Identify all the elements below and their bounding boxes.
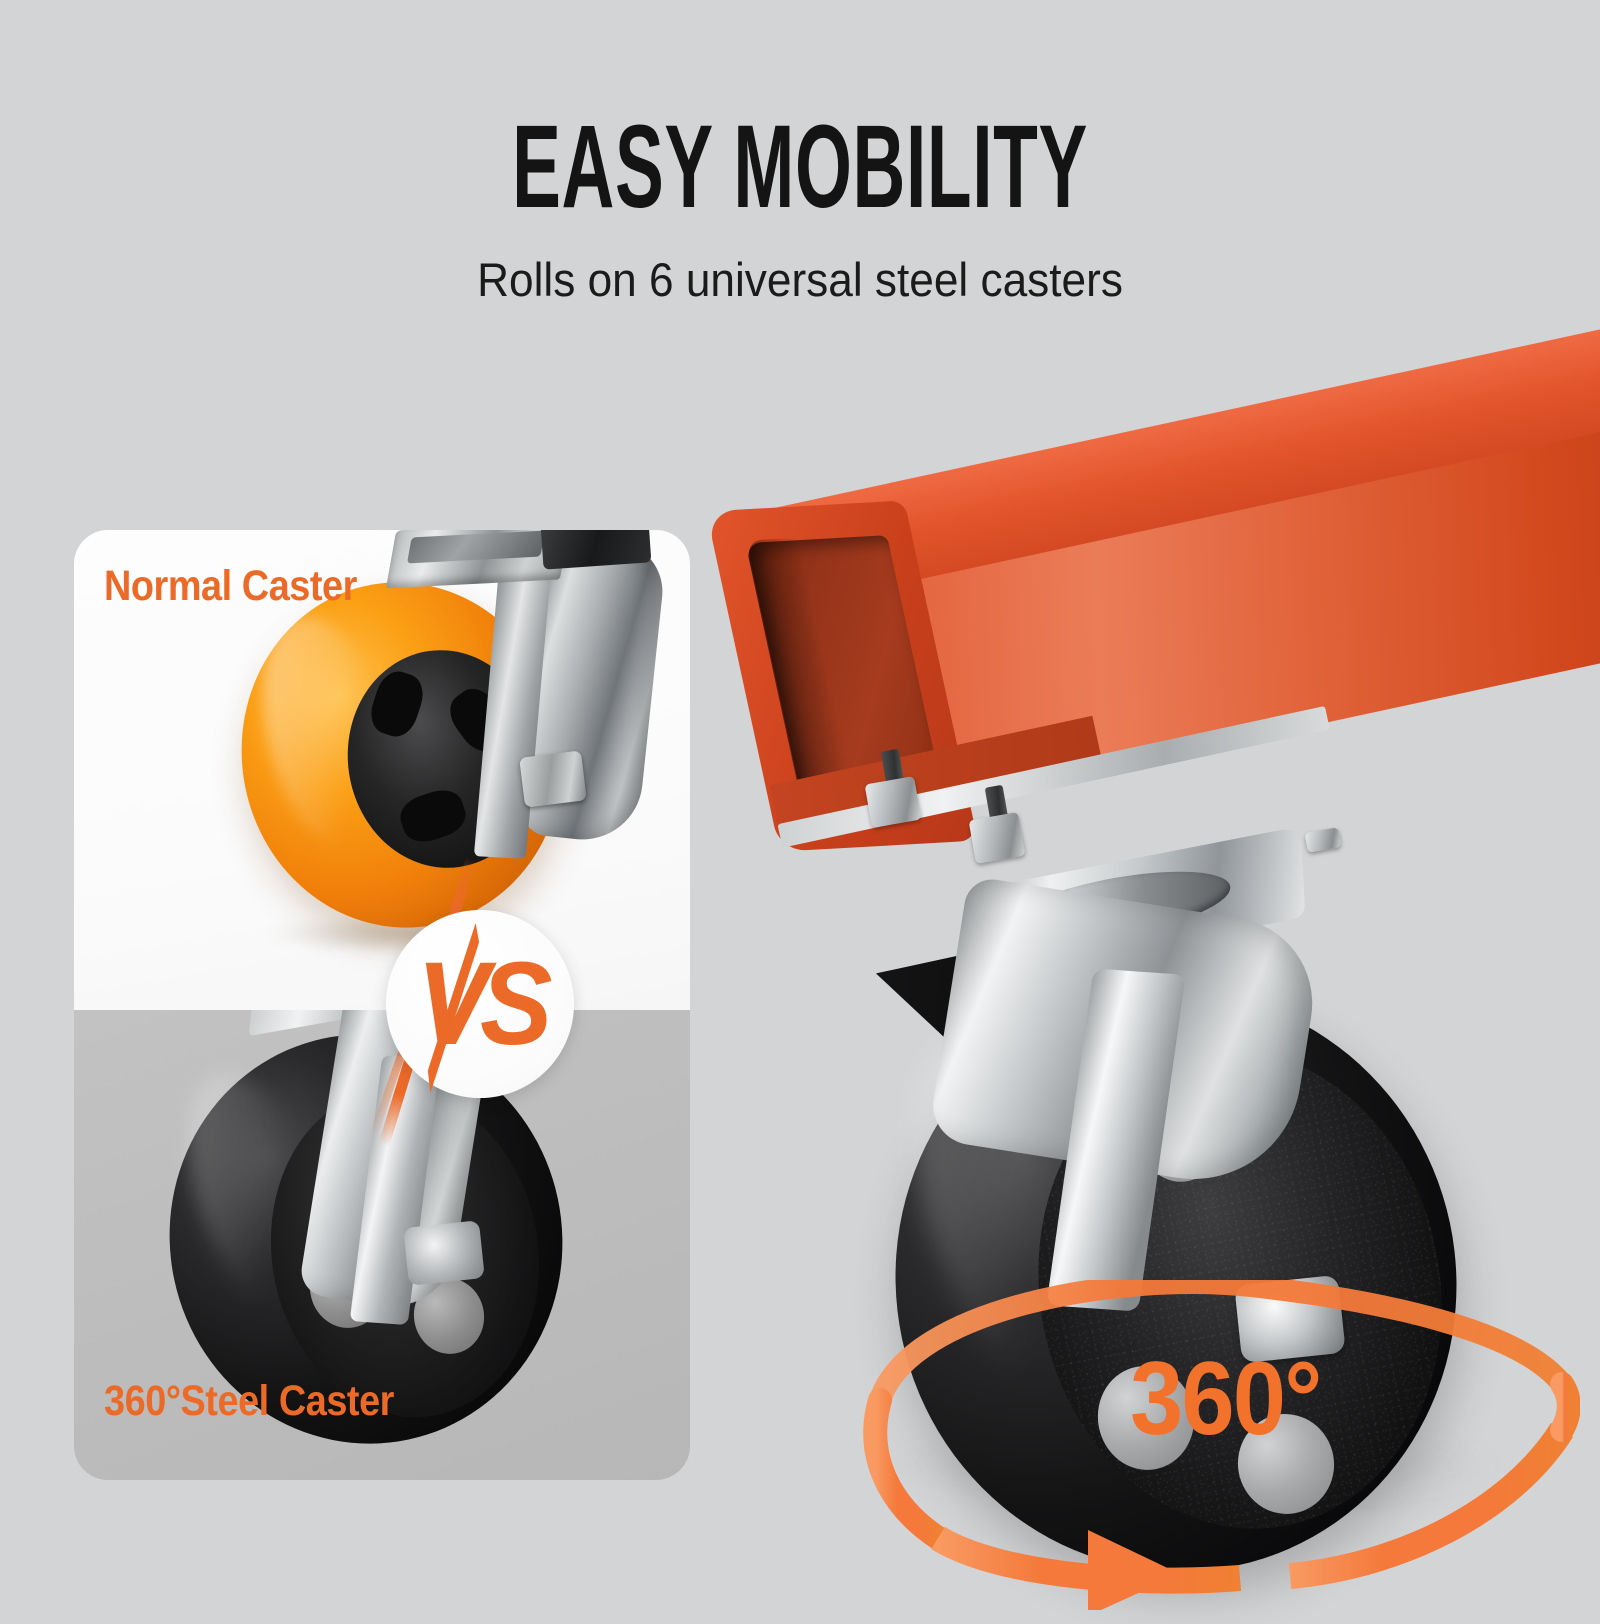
- steel-caster-label: 360°Steel Caster: [104, 1377, 394, 1426]
- page-title: EASY MOBILITY: [304, 108, 1296, 226]
- hex-bolt-icon: [865, 776, 922, 828]
- versus-badge-label: VS: [394, 910, 567, 1098]
- hex-bolt-icon: [969, 812, 1026, 864]
- rotation-badge-label: 360°: [1130, 1340, 1321, 1459]
- header: EASY MOBILITY Rolls on 6 universal steel…: [0, 0, 1600, 307]
- hex-bolt-icon: [1305, 827, 1342, 853]
- normal-caster-label: Normal Caster: [104, 562, 357, 611]
- normal-caster-axle-nut: [519, 750, 587, 807]
- caster-comparison-card: Normal Caster 360°Steel Caster VS: [74, 530, 690, 1480]
- steel-caster-axle-nut: [403, 1220, 485, 1286]
- page-subtitle: Rolls on 6 universal steel casters: [48, 252, 1552, 307]
- product-hero-image: 360°: [740, 330, 1600, 1570]
